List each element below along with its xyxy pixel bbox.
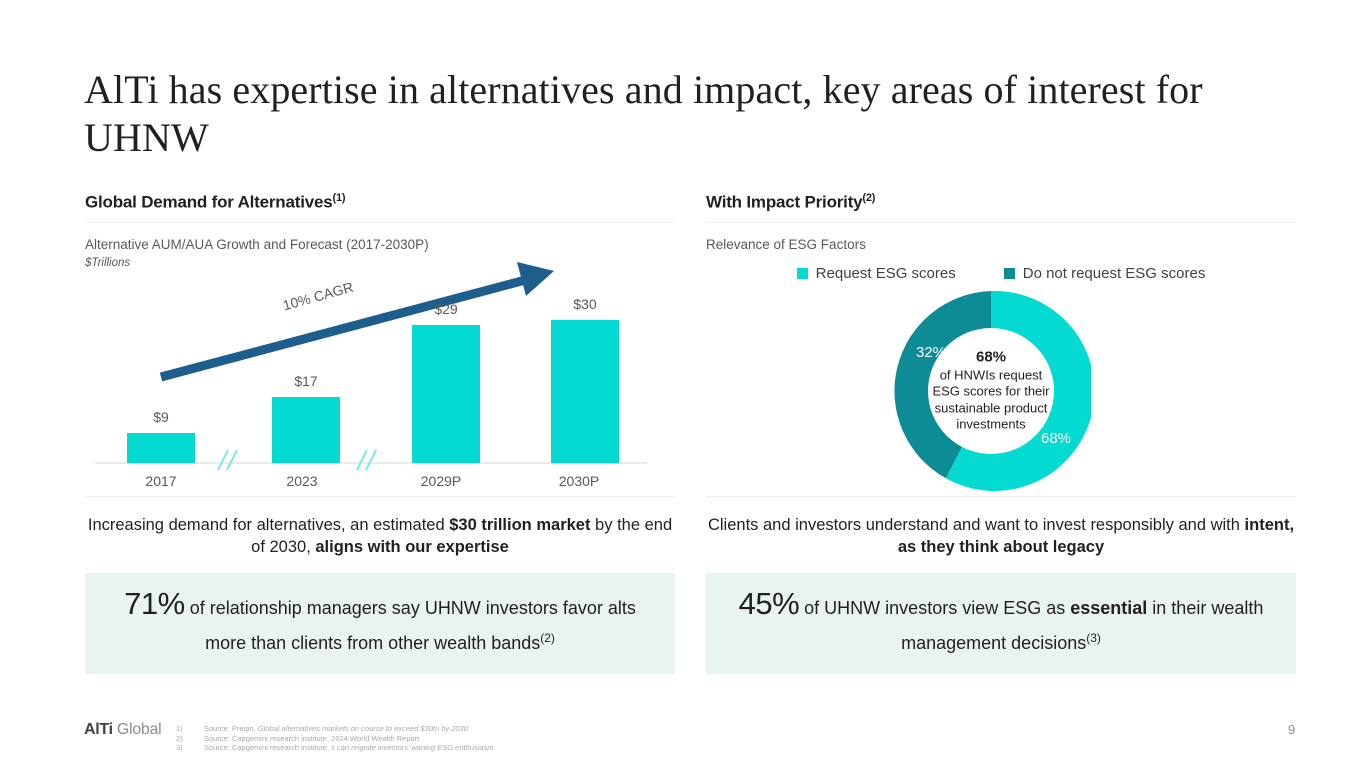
logo-mark: AlTi — [84, 721, 113, 738]
legend-item-request[interactable]: Request ESG scores — [797, 265, 956, 282]
bar-chart-svg: $9 $17 $29 $30 2017 2023 2029P 2030P — [85, 258, 675, 493]
source-note-text: Source: Capgemini research institute, 20… — [204, 734, 419, 744]
right-panel: With Impact Priority(2) Relevance of ESG… — [706, 192, 1296, 253]
source-note-italic: s can reignite investors' waning ESG ent… — [331, 743, 493, 752]
left-highlight-box: 71% of relationship managers say UHNW in… — [85, 573, 675, 674]
right-highlight-bold: essential — [1070, 598, 1147, 618]
left-caption-bold1: $30 trillion market — [449, 516, 590, 534]
left-highlight-percent: 71% — [124, 586, 185, 621]
source-note-lead: Source: Capgemini research institute, 20… — [204, 734, 419, 743]
source-note-row: 3) Source: Capgemini research institute,… — [176, 743, 696, 753]
left-panel-heading-footnote: (1) — [332, 192, 345, 204]
right-panel-divider — [706, 222, 1296, 223]
source-note-number: 3) — [176, 743, 204, 753]
left-highlight-text: 71% of relationship managers say UHNW in… — [111, 589, 649, 658]
donut-center-text: 68% of HNWIs request ESG scores for thei… — [928, 349, 1054, 433]
bar-2017 — [127, 433, 195, 463]
alti-global-logo: AlTi Global — [84, 721, 161, 739]
right-highlight-text: 45% of UHNW investors view ESG as essent… — [732, 589, 1270, 658]
bar-2029p — [412, 325, 480, 463]
left-panel-heading-text: Global Demand for Alternatives — [85, 193, 332, 212]
bar-value-2017: $9 — [153, 409, 169, 425]
right-panel-subtitle: Relevance of ESG Factors — [706, 236, 1296, 253]
bar-2023 — [272, 397, 340, 463]
left-panel-divider — [85, 222, 675, 223]
source-note-number: 1) — [176, 724, 204, 734]
donut-chart: 32% 68% 68% of HNWIs request ESG scores … — [891, 289, 1091, 493]
right-panel-heading-footnote: (2) — [862, 192, 875, 204]
left-highlight-footnote: (2) — [540, 631, 555, 645]
source-note-row: 1) Source: Preqin, Global alternatives m… — [176, 724, 696, 734]
bar-category-2030p: 2030P — [559, 473, 599, 489]
left-caption: Increasing demand for alternatives, an e… — [85, 514, 675, 558]
right-highlight-footnote: (3) — [1086, 631, 1101, 645]
source-note-text: Source: Capgemini research institute, s … — [204, 743, 494, 753]
bar-2030p — [551, 320, 619, 463]
legend-swatch-cyan-icon — [797, 268, 808, 279]
slide: AlTi has expertise in alternatives and i… — [0, 0, 1365, 768]
bar-value-2023: $17 — [294, 373, 318, 389]
right-caption: Clients and investors understand and wan… — [706, 514, 1296, 558]
legend-swatch-teal-icon — [1004, 268, 1015, 279]
legend-item-do-not-request[interactable]: Do not request ESG scores — [1004, 265, 1206, 282]
legend-label-do-not-request: Do not request ESG scores — [1023, 265, 1206, 282]
donut-center-percent: 68% — [928, 349, 1054, 366]
left-highlight-body: of relationship managers say UHNW invest… — [185, 598, 636, 653]
source-note-number: 2) — [176, 734, 204, 744]
source-note-lead: Source: Preqin, — [204, 724, 258, 733]
left-caption-divider — [85, 496, 675, 497]
left-panel-subtitle-text: Alternative AUM/AUA Growth and Forecast … — [85, 237, 429, 252]
right-highlight-percent: 45% — [739, 586, 800, 621]
page-title: AlTi has expertise in alternatives and i… — [84, 66, 1224, 162]
right-panel-heading-text: With Impact Priority — [706, 193, 862, 212]
cagr-arrow-icon — [161, 262, 554, 377]
donut-center-description: of HNWIs request ESG scores for their su… — [932, 367, 1049, 432]
bar-category-2023: 2023 — [286, 473, 317, 489]
right-highlight-box: 45% of UHNW investors view ESG as essent… — [706, 573, 1296, 674]
left-panel-heading: Global Demand for Alternatives(1) — [85, 192, 675, 213]
source-note-italic: Global alternatives markets on course to… — [258, 724, 468, 733]
bar-chart: $9 $17 $29 $30 2017 2023 2029P 2030P — [85, 258, 675, 493]
bar-category-2017: 2017 — [145, 473, 176, 489]
right-caption-divider — [706, 496, 1296, 497]
source-note-row: 2) Source: Capgemini research institute,… — [176, 734, 696, 744]
right-highlight-body1: of UHNW investors view ESG as — [799, 598, 1070, 618]
bar-value-2029p: $29 — [434, 301, 458, 317]
right-caption-part1: Clients and investors understand and wan… — [708, 516, 1245, 534]
legend-label-request: Request ESG scores — [816, 265, 956, 282]
source-note-lead: Source: Capgemini research institute, — [204, 743, 331, 752]
source-note-text: Source: Preqin, Global alternatives mark… — [204, 724, 468, 734]
bar-category-2029p: 2029P — [421, 473, 461, 489]
page-number: 9 — [1288, 722, 1295, 737]
left-caption-part1: Increasing demand for alternatives, an e… — [88, 516, 449, 534]
source-notes: 1) Source: Preqin, Global alternatives m… — [176, 724, 696, 753]
bar-value-2030p: $30 — [573, 296, 597, 312]
left-caption-bold2: aligns with our expertise — [315, 538, 508, 556]
donut-legend: Request ESG scores Do not request ESG sc… — [706, 265, 1296, 282]
right-panel-heading: With Impact Priority(2) — [706, 192, 1296, 213]
logo-word: Global — [113, 721, 162, 738]
